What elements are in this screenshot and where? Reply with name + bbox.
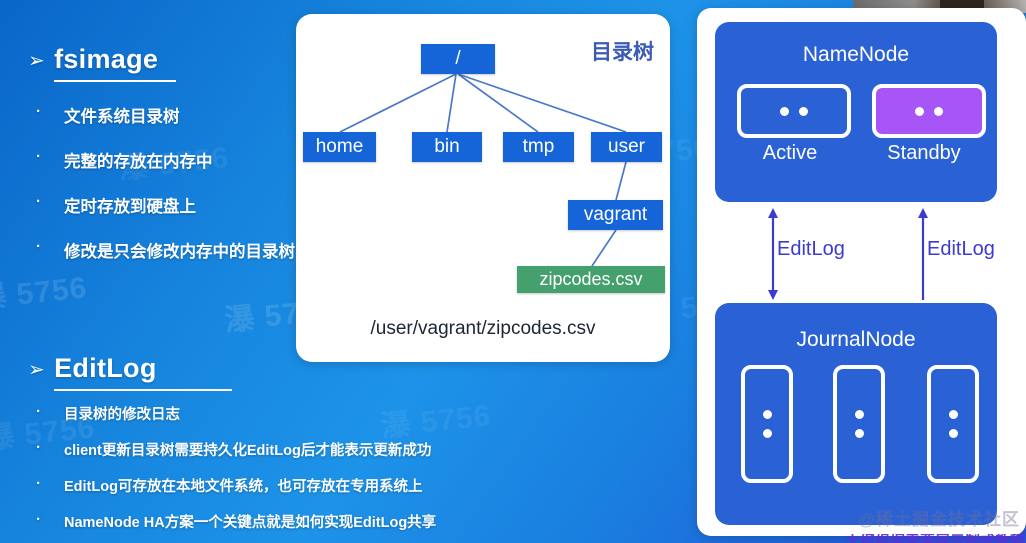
namenode-standby-server-icon[interactable]: [872, 84, 986, 138]
corner-watermark: @稀土掘金技术社区: [858, 505, 1020, 530]
list-item: · 文件系统目录树: [36, 103, 295, 127]
list-item-label: 定时存放到硬盘上: [64, 193, 196, 217]
led-icon: [949, 410, 958, 419]
section-heading-editlog: ➢ EditLog: [28, 353, 232, 391]
tree-node-user[interactable]: user: [591, 132, 662, 162]
tree-node-vagrant[interactable]: vagrant: [568, 200, 663, 230]
tree-node-bin[interactable]: bin: [412, 132, 482, 162]
namenode-active-label: Active: [733, 142, 847, 165]
bullet-list-editlog: · 目录树的修改日志 · client更新目录树需要持久化EditLog后才能表…: [36, 403, 436, 543]
tree-node-home[interactable]: home: [303, 132, 376, 162]
list-item-label: EditLog可存放在本地文件系统，也可存放在专用系统上: [64, 475, 422, 496]
bullet-dot-icon: ·: [36, 193, 52, 210]
directory-tree-card: 目录树 / home bin tmp user vagrant zipcodes…: [296, 14, 670, 362]
namenode-title: NameNode: [715, 43, 997, 67]
list-item: · 定时存放到硬盘上: [36, 193, 295, 217]
led-icon: [855, 429, 864, 438]
slide-canvas: 瀑 5756 瀑 5756 瀑 5756 瀑 5756 瀑 5756 瀑 575…: [0, 0, 1026, 543]
led-icon: [799, 107, 808, 116]
namenode-standby-label: Standby: [867, 142, 981, 165]
editlog-label: EditLog: [777, 238, 845, 261]
section-heading-label: fsimage: [54, 44, 176, 82]
caret-icon: ➢: [28, 51, 45, 71]
namenode-box: NameNode Active Standby: [715, 22, 997, 202]
bottom-cut-off-text: 大纲根据需要展示制成教程: [705, 534, 1025, 543]
list-item: · 修改是只会修改内存中的目录树: [36, 238, 295, 262]
journalnode-instance-icon[interactable]: [833, 365, 885, 483]
namenode-active-server-icon[interactable]: [737, 84, 851, 138]
bullet-dot-icon: ·: [36, 511, 52, 528]
list-item-label: 文件系统目录树: [64, 103, 180, 127]
tree-node-zipcodes-file[interactable]: zipcodes.csv: [517, 266, 665, 293]
bullet-dot-icon: ·: [36, 439, 52, 456]
bullet-dot-icon: ·: [36, 475, 52, 492]
editlog-connector-right: EditLog: [915, 208, 931, 305]
list-item: · client更新目录树需要持久化EditLog后才能表示更新成功: [36, 439, 436, 460]
list-item-label: NameNode HA方案一个关键点就是如何实现EditLog共享: [64, 511, 436, 532]
editlog-label: EditLog: [927, 238, 995, 261]
tree-node-tmp[interactable]: tmp: [503, 132, 574, 162]
journalnode-instance-icon[interactable]: [741, 365, 793, 483]
led-icon: [949, 429, 958, 438]
led-icon: [915, 107, 924, 116]
bullet-list-fsimage: · 文件系统目录树 · 完整的存放在内存中 · 定时存放到硬盘上 · 修改是只会…: [36, 103, 295, 283]
led-icon: [780, 107, 789, 116]
list-item-label: client更新目录树需要持久化EditLog后才能表示更新成功: [64, 439, 431, 460]
led-icon: [763, 429, 772, 438]
list-item: · 完整的存放在内存中: [36, 148, 295, 172]
bullet-dot-icon: ·: [36, 403, 52, 420]
journalnode-box: JournalNode: [715, 303, 997, 525]
section-heading-fsimage: ➢ fsimage: [28, 44, 176, 82]
tree-node-root[interactable]: /: [421, 44, 495, 74]
led-icon: [934, 107, 943, 116]
bullet-dot-icon: ·: [36, 103, 52, 120]
journalnode-title: JournalNode: [715, 328, 997, 352]
list-item-label: 完整的存放在内存中: [64, 148, 213, 172]
editlog-connector-left: EditLog: [765, 208, 781, 305]
list-item-label: 目录树的修改日志: [64, 403, 180, 424]
section-heading-label: EditLog: [54, 353, 232, 391]
ha-architecture-card: NameNode Active Standby EditLog: [697, 8, 1026, 536]
caret-icon: ➢: [28, 360, 45, 380]
led-icon: [855, 410, 864, 419]
list-item: · 目录树的修改日志: [36, 403, 436, 424]
bullet-dot-icon: ·: [36, 238, 52, 255]
bullet-dot-icon: ·: [36, 148, 52, 165]
list-item: · NameNode HA方案一个关键点就是如何实现EditLog共享: [36, 511, 436, 532]
led-icon: [763, 410, 772, 419]
journalnode-instance-icon[interactable]: [927, 365, 979, 483]
list-item: · EditLog可存放在本地文件系统，也可存放在专用系统上: [36, 475, 436, 496]
list-item-label: 修改是只会修改内存中的目录树: [64, 238, 295, 262]
